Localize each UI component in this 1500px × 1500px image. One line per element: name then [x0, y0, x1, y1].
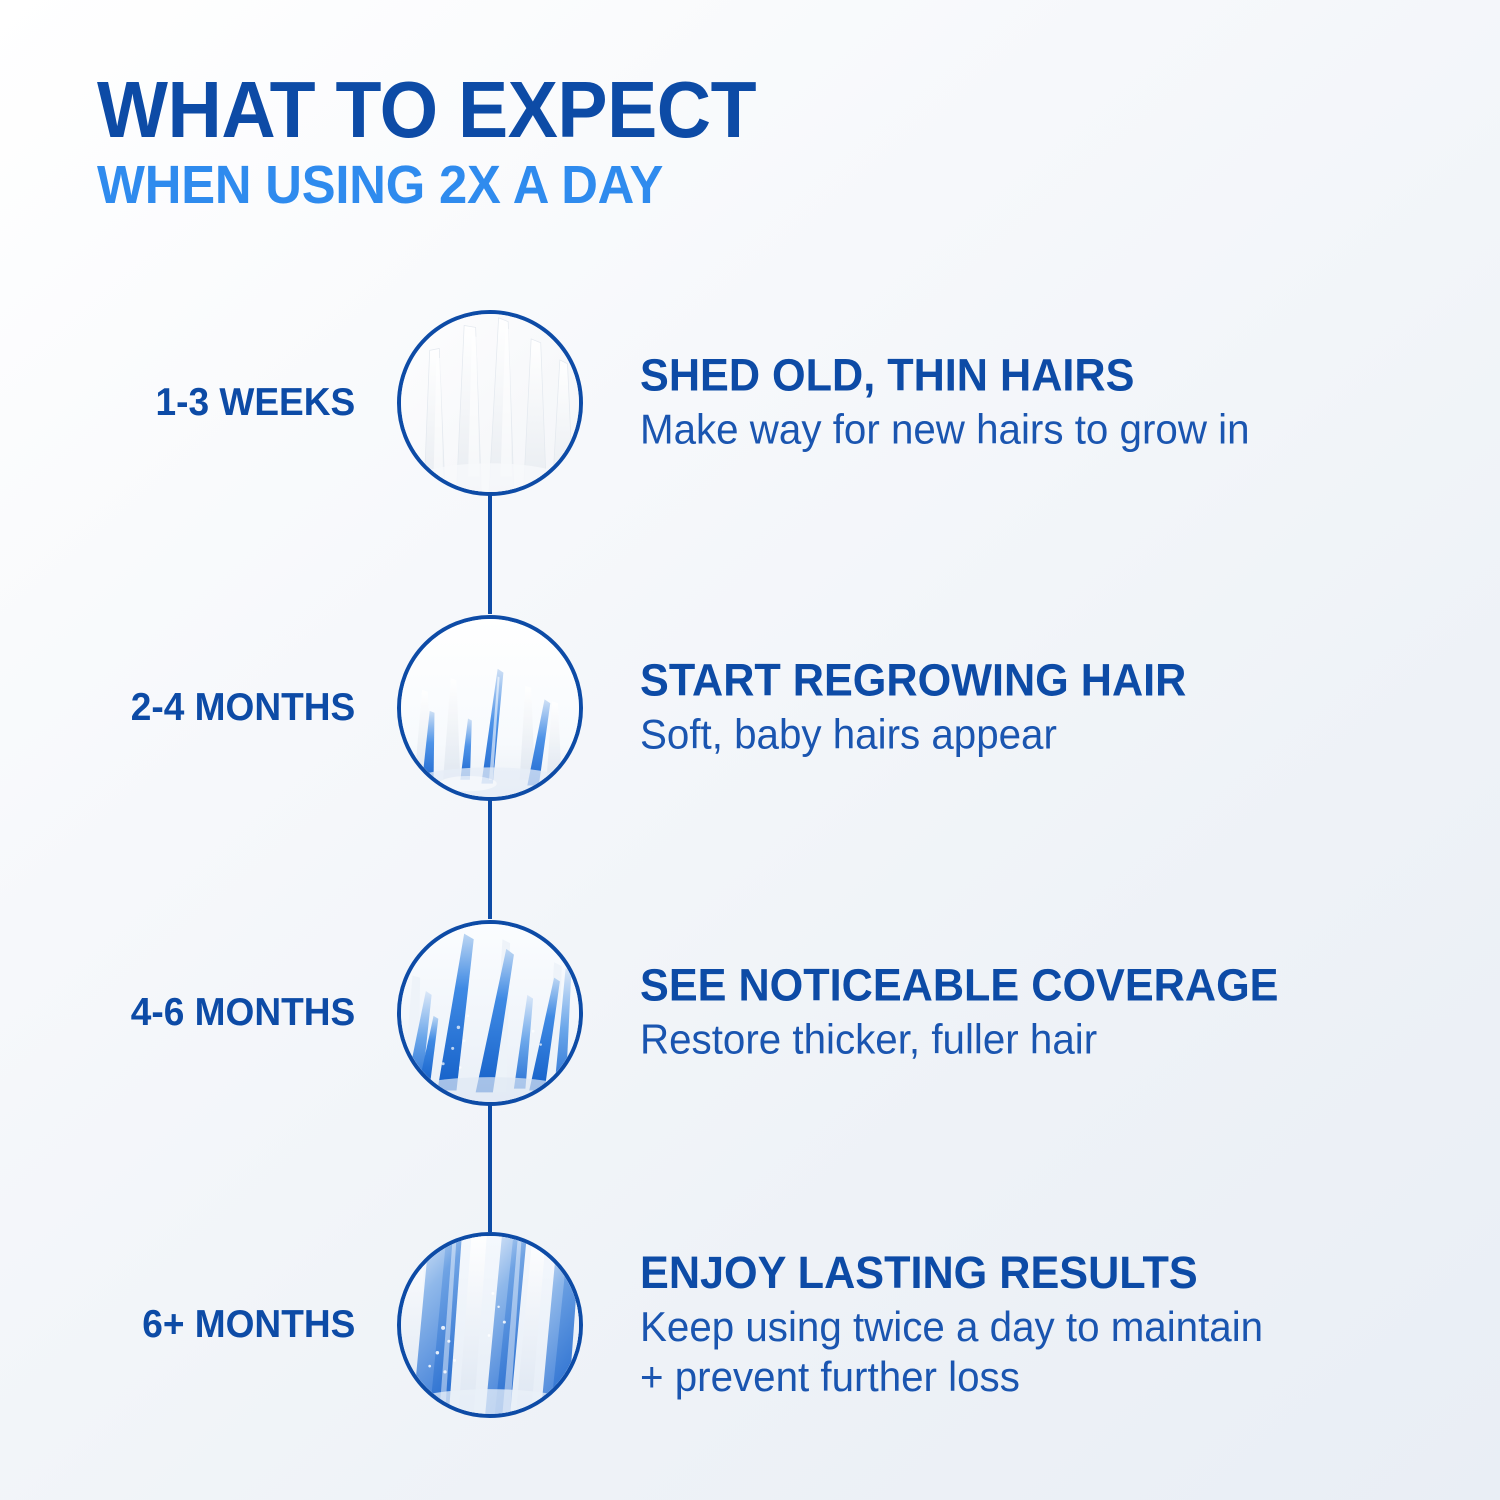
step-2-time-label: 2-4 MONTHS — [131, 686, 355, 730]
step-4-copy: ENJOY LASTING RESULTS Keep using twice a… — [640, 1249, 1450, 1401]
timeline-step-2: 2-4 MONTHS — [0, 615, 1500, 801]
step-1-time-label: 1-3 WEEKS — [155, 381, 355, 425]
timeline-connector-2 — [488, 799, 492, 919]
step-4-headline: ENJOY LASTING RESULTS — [640, 1249, 1418, 1296]
hair-follicle-baby-hairs-icon — [397, 615, 583, 801]
infographic-page: WHAT TO EXPECT WHEN USING 2X A DAY 1-3 W… — [0, 0, 1500, 1500]
timeline: 1-3 WEEKS — [0, 0, 1500, 1500]
step-3-headline: SEE NOTICEABLE COVERAGE — [640, 962, 1418, 1009]
timeline-step-4: 6+ MONTHS — [0, 1232, 1500, 1418]
timeline-step-1: 1-3 WEEKS — [0, 310, 1500, 496]
step-4-description: Keep using twice a day to maintain + pre… — [640, 1302, 1418, 1401]
step-1-headline: SHED OLD, THIN HAIRS — [640, 352, 1418, 399]
step-1-description: Make way for new hairs to grow in — [640, 405, 1418, 455]
step-3-description: Restore thicker, fuller hair — [640, 1015, 1418, 1065]
step-1-copy: SHED OLD, THIN HAIRS Make way for new ha… — [640, 352, 1450, 455]
hair-follicle-dense-icon — [397, 1232, 583, 1418]
step-4-time-label: 6+ MONTHS — [142, 1303, 355, 1347]
timeline-step-3: 4-6 MONTHS — [0, 920, 1500, 1106]
step-2-headline: START REGROWING HAIR — [640, 657, 1418, 704]
step-3-time-label: 4-6 MONTHS — [131, 991, 355, 1035]
step-2-copy: START REGROWING HAIR Soft, baby hairs ap… — [640, 657, 1450, 760]
step-2-description: Soft, baby hairs appear — [640, 710, 1418, 760]
step-3-copy: SEE NOTICEABLE COVERAGE Restore thicker,… — [640, 962, 1450, 1065]
timeline-connector-1 — [488, 494, 492, 614]
hair-follicle-sparse-pale-icon — [397, 310, 583, 496]
hair-follicle-coverage-icon — [397, 920, 583, 1106]
timeline-connector-3 — [488, 1104, 492, 1232]
